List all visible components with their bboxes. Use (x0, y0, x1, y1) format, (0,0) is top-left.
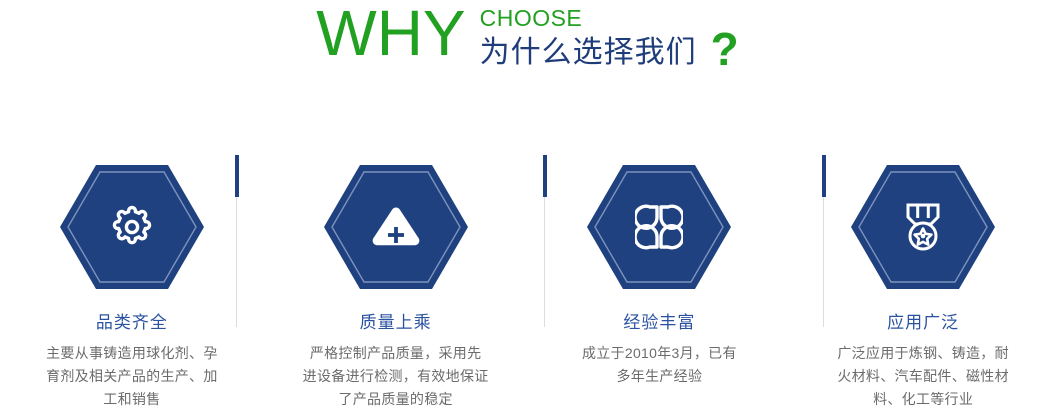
hexagon-badge (323, 164, 469, 290)
desc-line: 了产品质量的稳定 (292, 388, 500, 411)
card-title: 经验丰富 (623, 312, 695, 334)
heading-why-word: WHY (316, 2, 465, 64)
feature-cards-row: 品类齐全 主要从事铸造用球化剂、孕 育剂及相关产品的生产、加 工和销售 (0, 150, 1055, 416)
feature-card[interactable]: 质量上乘 严格控制产品质量，采用先 进设备进行检测，有效地保证 了产品质量的稳定 (264, 150, 528, 416)
heading-right-block: CHOOSE 为什么选择我们 ? (480, 2, 739, 73)
card-title: 质量上乘 (360, 312, 432, 334)
heading-inner: WHY CHOOSE 为什么选择我们 ? (316, 0, 738, 73)
clover-icon (586, 164, 732, 290)
feature-card[interactable]: 应用广泛 广泛应用于炼钢、铸造，耐 火材料、汽车配件、磁性材 料、化工等行业 (791, 150, 1055, 416)
card-description: 严格控制产品质量，采用先 进设备进行检测，有效地保证 了产品质量的稳定 (292, 342, 500, 411)
card-description: 广泛应用于炼钢、铸造，耐 火材料、汽车配件、磁性材 料、化工等行业 (819, 342, 1027, 411)
triangle-plus-icon (323, 164, 469, 290)
desc-line: 成立于2010年3月，已有 (555, 342, 763, 365)
desc-line: 育剂及相关产品的生产、加 (28, 365, 236, 388)
desc-line: 多年生产经验 (555, 365, 763, 388)
desc-line: 料、化工等行业 (819, 388, 1027, 411)
desc-line: 火材料、汽车配件、磁性材 (819, 365, 1027, 388)
desc-line: 严格控制产品质量，采用先 (292, 342, 500, 365)
desc-line: 工和销售 (28, 388, 236, 411)
gear-icon (59, 164, 205, 290)
desc-line: 主要从事铸造用球化剂、孕 (28, 342, 236, 365)
heading-subtitle-row: 为什么选择我们 ? (480, 33, 739, 73)
card-description: 主要从事铸造用球化剂、孕 育剂及相关产品的生产、加 工和销售 (28, 342, 236, 411)
medal-icon (850, 164, 996, 290)
feature-card[interactable]: 经验丰富 成立于2010年3月，已有 多年生产经验 (528, 150, 792, 416)
desc-line: 广泛应用于炼钢、铸造，耐 (819, 342, 1027, 365)
card-title: 应用广泛 (887, 312, 959, 334)
heading-choose-word: CHOOSE (480, 6, 739, 30)
hexagon-badge (586, 164, 732, 290)
hexagon-badge (850, 164, 996, 290)
card-description: 成立于2010年3月，已有 多年生产经验 (555, 342, 763, 388)
hexagon-badge (59, 164, 205, 290)
heading-cn-subtitle: 为什么选择我们 (480, 36, 697, 70)
section-heading: WHY CHOOSE 为什么选择我们 ? (0, 0, 1055, 100)
why-choose-us-section: WHY CHOOSE 为什么选择我们 ? (0, 0, 1055, 416)
desc-line: 进设备进行检测，有效地保证 (292, 365, 500, 388)
feature-card[interactable]: 品类齐全 主要从事铸造用球化剂、孕 育剂及相关产品的生产、加 工和销售 (0, 150, 264, 416)
question-mark-icon: ? (711, 29, 739, 69)
card-title: 品类齐全 (96, 312, 168, 334)
